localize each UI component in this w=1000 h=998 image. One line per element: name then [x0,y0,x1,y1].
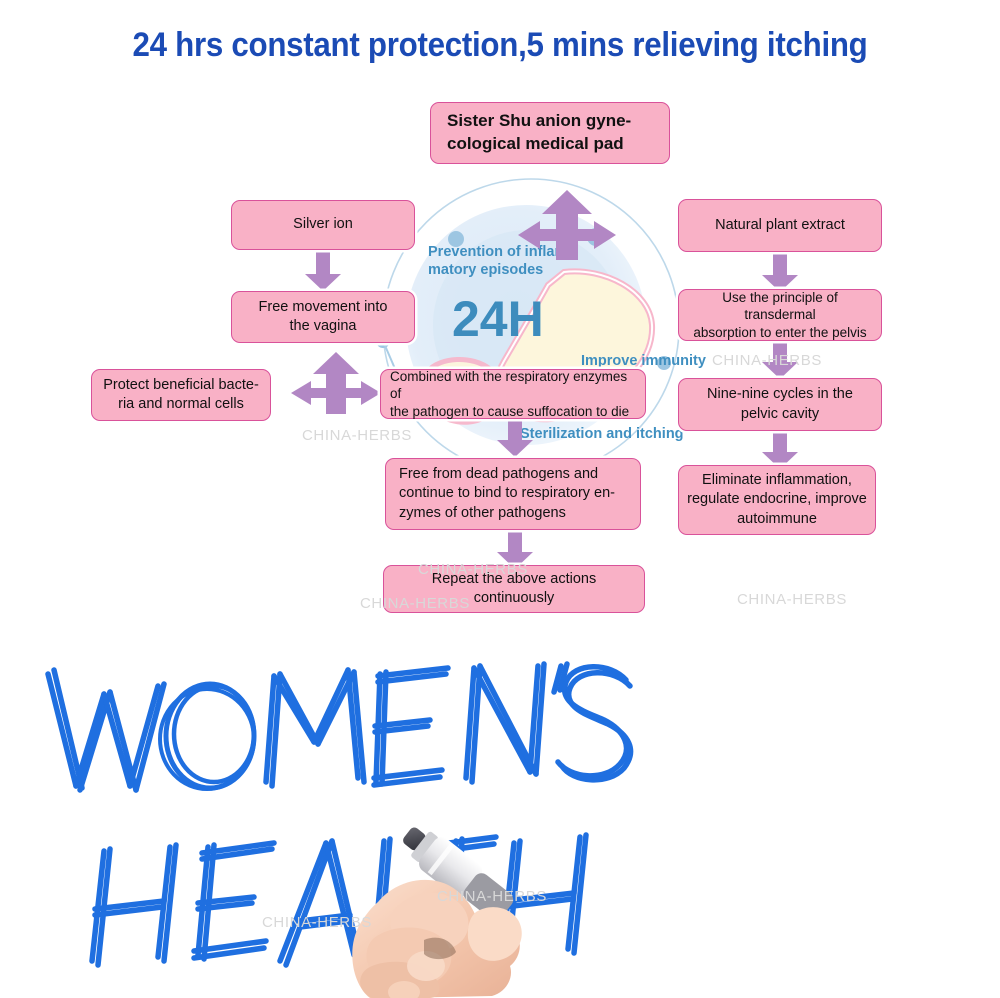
womens-health-photo: CHINA-HERBS CHINA-HERBS [0,636,1000,998]
handwritten-womens [18,646,658,826]
watermark: CHINA-HERBS [418,561,528,578]
hand-with-marker-icon [300,816,620,998]
label-sterilization-itching: Sterilization and itching [520,425,684,443]
watermark: CHINA-HERBS [712,352,822,369]
box-free-from-dead-pathogens[interactable]: Free from dead pathogens and continue to… [385,458,641,530]
three-way-arrow-left [288,350,384,418]
page-title: 24 hrs constant protection,5 mins reliev… [40,26,960,65]
flow-diagram: Prevention of inflam- matory episodes 24… [0,80,1000,640]
watermark: CHINA-HERBS [737,591,847,608]
down-arrow-silver-to-free [303,250,343,292]
poster-canvas: 24 hrs constant protection,5 mins reliev… [0,0,1000,998]
label-24h: 24H [452,290,544,348]
down-arrow-natural-to-transdermal [760,251,800,293]
box-free-movement[interactable]: Free movement into the vagina [231,291,415,343]
box-silver-ion[interactable]: Silver ion [231,200,415,250]
box-transdermal-absorption[interactable]: Use the principle of transdermal absorpt… [678,289,882,341]
box-natural-plant-extract[interactable]: Natural plant extract [678,199,882,252]
down-arrow-cycles-to-eliminate [760,428,800,470]
watermark: CHINA-HERBS [302,427,412,444]
down-arrow-combined-to-freefrom [495,416,535,458]
box-product-title[interactable]: Sister Shu anion gyne- cological medical… [430,102,670,164]
box-eliminate-inflammation[interactable]: Eliminate inflammation, regulate endocri… [678,465,876,535]
watermark: CHINA-HERBS [437,888,547,905]
three-way-arrow-top [512,188,622,266]
watermark: CHINA-HERBS [262,914,372,931]
box-nine-nine-cycles[interactable]: Nine-nine cycles in the pelvic cavity [678,378,882,431]
box-protect-bacteria[interactable]: Protect beneficial bacte- ria and normal… [91,369,271,421]
watermark: CHINA-HERBS [360,595,470,612]
box-combined-respiratory-enzymes[interactable]: Combined with the respiratory enzymes of… [380,369,646,419]
